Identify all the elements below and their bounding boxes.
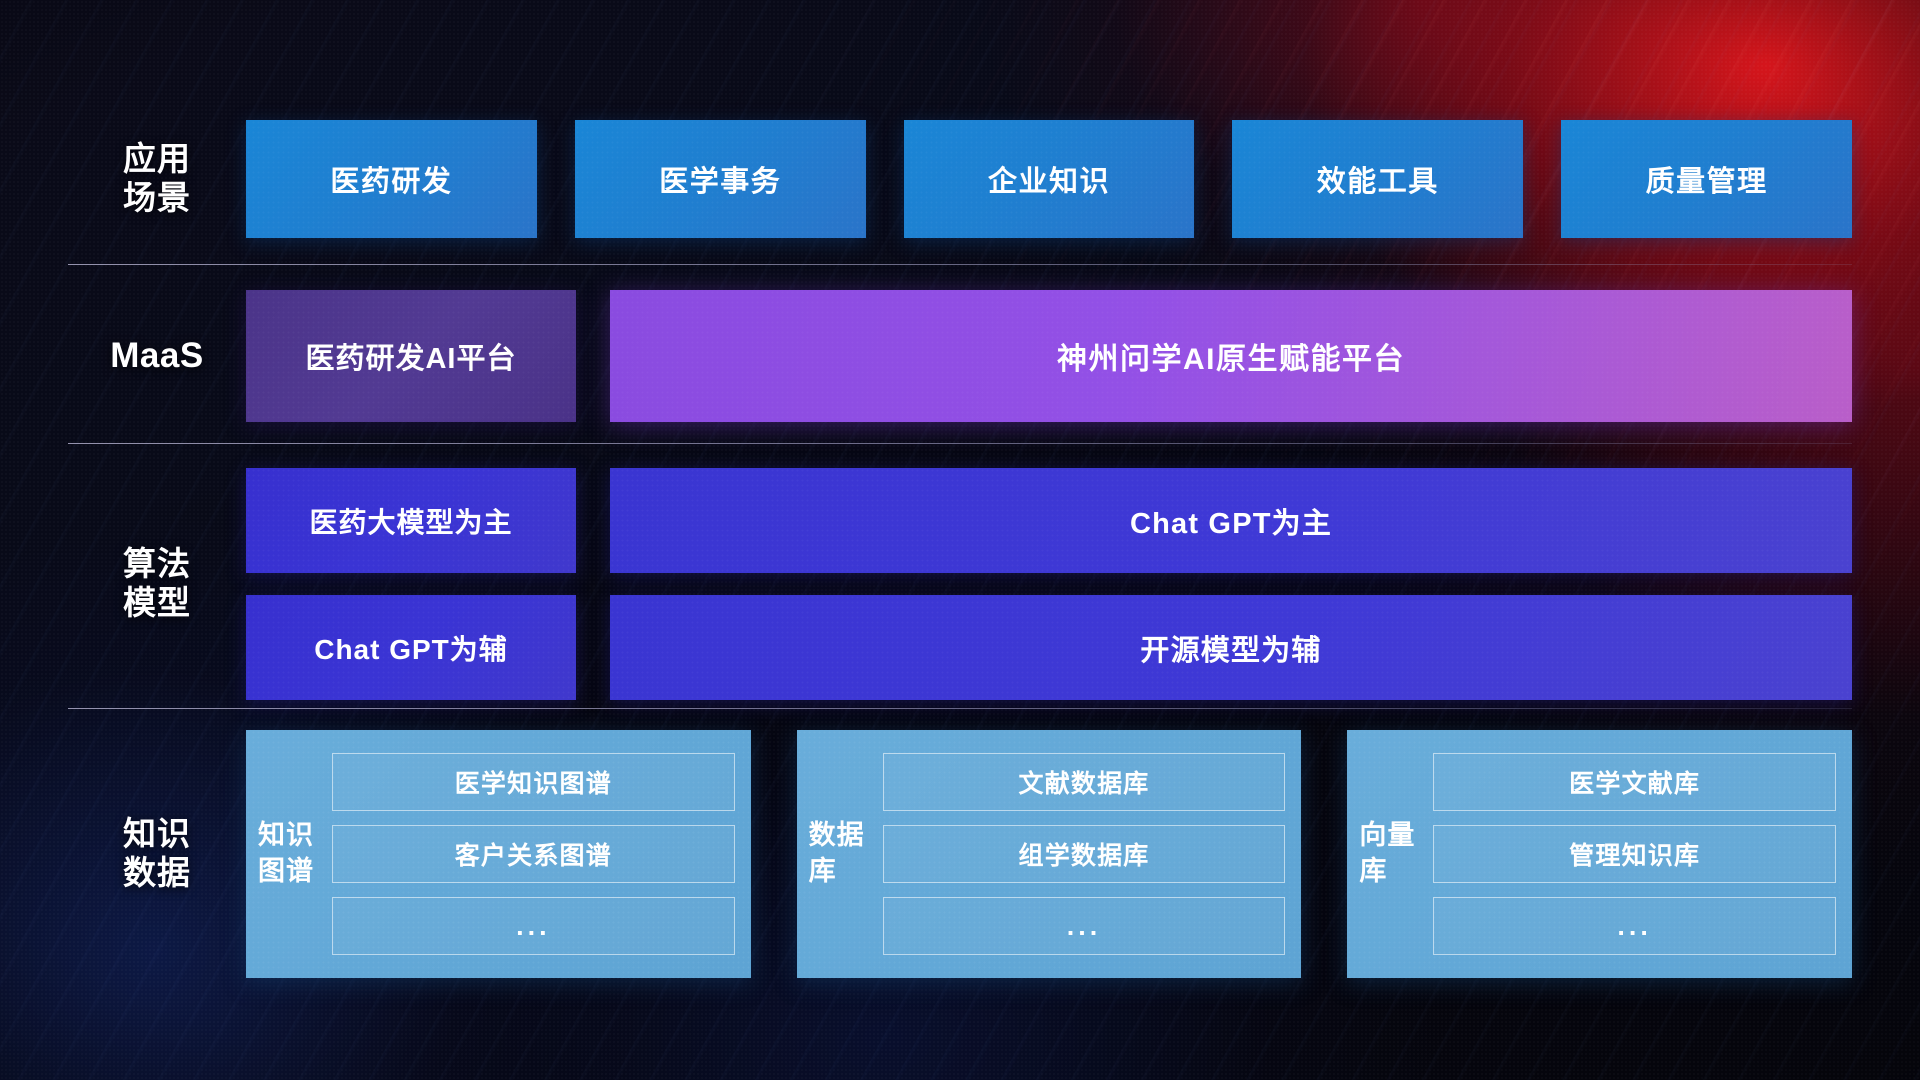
app-card-label: 质量管理 [1646,158,1768,200]
knowledge-data-body: 知识图谱 医学知识图谱 客户关系图谱 ... 数据库 文献数据库 组学数据库 .… [246,730,1852,978]
algo-card-chatgpt-secondary[interactable]: Chat GPT为辅 [246,595,576,700]
app-card-drug-rd[interactable]: 医药研发 [246,120,537,238]
knowledge-panel-knowledge-graph[interactable]: 知识图谱 医学知识图谱 客户关系图谱 ... [246,730,751,978]
algo-card-label: 开源模型为辅 [1140,627,1321,669]
row-knowledge-data: 知识 数据 知识图谱 医学知识图谱 客户关系图谱 ... 数据库 [68,730,1852,978]
knowledge-item-customer-kg[interactable]: 客户关系图谱 [332,825,735,883]
knowledge-panel-track: 知识图谱 医学知识图谱 客户关系图谱 ... 数据库 文献数据库 组学数据库 .… [246,730,1852,978]
row-label-maas: MaaS [68,335,246,376]
algorithm-models-body: 医药大模型为主 Chat GPT为主 Chat GPT为辅 开源模型为辅 [246,468,1852,700]
app-card-medical-affairs[interactable]: 医学事务 [575,120,866,238]
app-card-label: 医学事务 [659,158,781,200]
row-label-algorithm-models: 算法 模型 [68,545,246,623]
knowledge-item-more[interactable]: ... [332,897,735,955]
row-label-application-scenarios: 应用 场景 [68,140,246,218]
app-card-efficiency-tools[interactable]: 效能工具 [1232,120,1523,238]
knowledge-panel-title: 知识图谱 [258,744,320,964]
knowledge-item-list: 文献数据库 组学数据库 ... [883,744,1286,964]
maas-card-label: 神州问学AI原生赋能平台 [1057,334,1405,378]
knowledge-item-more[interactable]: ... [883,897,1286,955]
algorithm-line-primary: 医药大模型为主 Chat GPT为主 [246,468,1852,573]
divider-apps-maas [68,264,1852,265]
knowledge-item-list: 医学文献库 管理知识库 ... [1433,744,1836,964]
application-card-track: 医药研发 医学事务 企业知识 效能工具 质量管理 [246,120,1852,238]
maas-card-label: 医药研发AI平台 [305,335,516,377]
row-algorithm-models: 算法 模型 医药大模型为主 Chat GPT为主 Chat GPT为辅 [68,468,1852,700]
knowledge-panel-vector-store[interactable]: 向量库 医学文献库 管理知识库 ... [1347,730,1852,978]
app-card-enterprise-knowledge[interactable]: 企业知识 [904,120,1195,238]
maas-card-shenzhou-wenxue-platform[interactable]: 神州问学AI原生赋能平台 [610,290,1852,422]
app-card-quality-management[interactable]: 质量管理 [1561,120,1852,238]
maas-card-track: 医药研发AI平台 神州问学AI原生赋能平台 [246,290,1852,422]
application-scenarios-body: 医药研发 医学事务 企业知识 效能工具 质量管理 [246,120,1852,238]
knowledge-item-more[interactable]: ... [1433,897,1836,955]
algorithm-line-secondary: Chat GPT为辅 开源模型为辅 [246,595,1852,700]
knowledge-item-omics-db[interactable]: 组学数据库 [883,825,1286,883]
knowledge-panel-title: 数据库 [809,744,871,964]
architecture-diagram: 应用 场景 医药研发 医学事务 企业知识 效能工具 [0,0,1920,1080]
row-label-knowledge-data: 知识 数据 [68,815,246,893]
maas-card-drug-ai-platform[interactable]: 医药研发AI平台 [246,290,576,422]
knowledge-item-management-knowledge[interactable]: 管理知识库 [1433,825,1836,883]
knowledge-panel-title: 向量库 [1359,744,1421,964]
row-application-scenarios: 应用 场景 医药研发 医学事务 企业知识 效能工具 [68,120,1852,238]
maas-body: 医药研发AI平台 神州问学AI原生赋能平台 [246,290,1852,422]
knowledge-item-medical-kg[interactable]: 医学知识图谱 [332,753,735,811]
app-card-label: 医药研发 [330,158,452,200]
algorithm-card-stack: 医药大模型为主 Chat GPT为主 Chat GPT为辅 开源模型为辅 [246,468,1852,700]
algo-card-label: Chat GPT为辅 [314,628,508,668]
app-card-label: 企业知识 [988,158,1110,200]
knowledge-item-literature-db[interactable]: 文献数据库 [883,753,1286,811]
knowledge-panel-database[interactable]: 数据库 文献数据库 组学数据库 ... [797,730,1302,978]
algo-card-drug-llm-primary[interactable]: 医药大模型为主 [246,468,576,573]
app-card-label: 效能工具 [1317,158,1439,200]
knowledge-item-medical-literature[interactable]: 医学文献库 [1433,753,1836,811]
algo-card-label: Chat GPT为主 [1130,500,1332,542]
algo-card-label: 医药大模型为主 [309,501,512,541]
row-maas: MaaS 医药研发AI平台 神州问学AI原生赋能平台 [68,290,1852,422]
divider-algorithm-knowledge [68,708,1852,709]
algo-card-chatgpt-primary[interactable]: Chat GPT为主 [610,468,1852,573]
knowledge-item-list: 医学知识图谱 客户关系图谱 ... [332,744,735,964]
algo-card-opensource-secondary[interactable]: 开源模型为辅 [610,595,1852,700]
divider-maas-algorithm [68,443,1852,444]
